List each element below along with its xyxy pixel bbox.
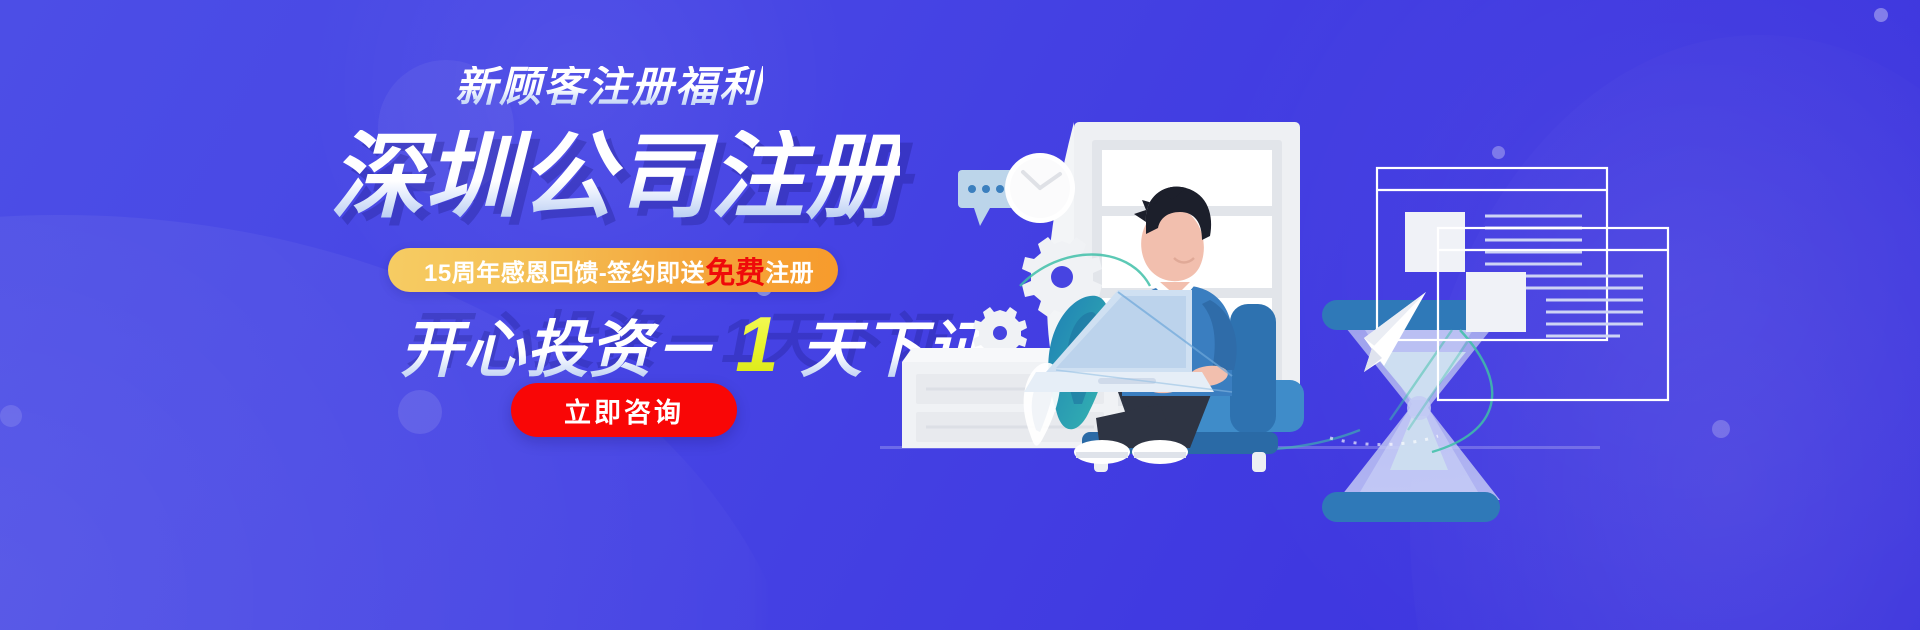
banner-copy-block: 新顾客注册福利 新顾客注册福利 深圳公司注册 深圳公司注册 15周年感恩回馈-签… (0, 0, 960, 630)
hourglass-cap-bottom (1322, 492, 1500, 522)
consult-now-button[interactable]: 立即咨询 (511, 383, 737, 437)
subline-number: 1 (733, 300, 781, 388)
wall-clock-icon (1005, 153, 1075, 223)
eyebrow-text: 新顾客注册福利 (455, 66, 763, 108)
document-window-front (1438, 228, 1668, 400)
hero-illustration (860, 0, 1920, 630)
hourglass-icon (1322, 300, 1500, 522)
promo-badge-trail: 注册 (765, 253, 814, 288)
speech-bubble-icon (958, 170, 1014, 226)
promo-badge-lead: 15周年感恩回馈-签约即送 (424, 253, 705, 288)
promo-badge-highlight: 免费 (705, 248, 765, 292)
promotional-banner: 新顾客注册福利 新顾客注册福利 深圳公司注册 深圳公司注册 15周年感恩回馈-签… (0, 0, 1920, 630)
headline-wrapper: 深圳公司注册 (330, 130, 900, 224)
promo-badge: 15周年感恩回馈-签约即送 免费 注册 (388, 248, 838, 292)
subline-lead: 开心投资－ (400, 316, 715, 385)
page-title: 深圳公司注册 (330, 130, 900, 224)
